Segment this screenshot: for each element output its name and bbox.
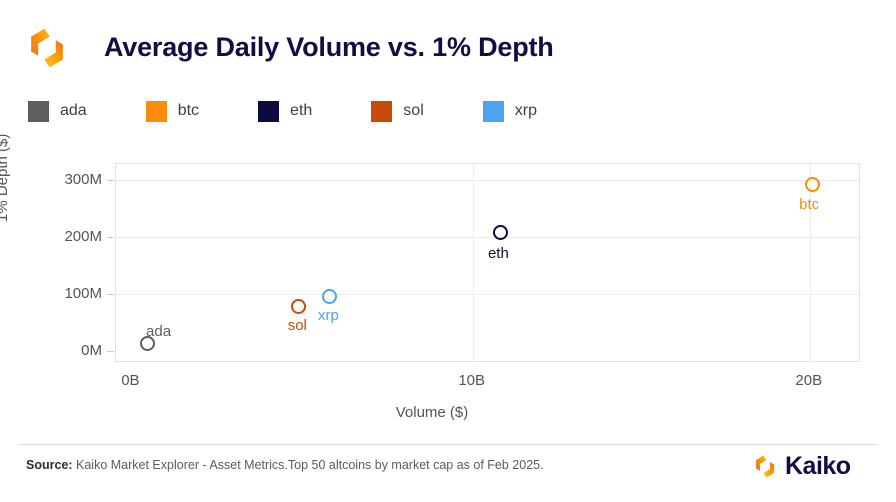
kaiko-logo-icon [752, 454, 778, 479]
data-point-label-xrp: xrp [318, 307, 339, 324]
gridline-vertical [473, 164, 474, 363]
kaiko-logo-icon [24, 26, 70, 70]
data-point-ada[interactable] [140, 336, 155, 351]
data-point-label-eth: eth [488, 245, 509, 262]
legend-swatch-ada [28, 101, 49, 122]
legend-label-eth: eth [290, 102, 312, 120]
plot-area [115, 163, 860, 362]
source-text: Kaiko Market Explorer - Asset Metrics.To… [73, 458, 544, 472]
legend-label-btc: btc [178, 102, 199, 120]
y-axis-tick-mark [107, 237, 114, 238]
source-label: Source: [26, 458, 73, 472]
data-point-xrp[interactable] [322, 289, 337, 304]
chart-card: Average Daily Volume vs. 1% Depth ada bt… [0, 0, 896, 502]
y-axis-tick-label: 300M [20, 171, 102, 188]
legend-swatch-xrp [483, 101, 504, 122]
y-axis-tick-label: 100M [20, 285, 102, 302]
x-axis-title: Volume ($) [0, 404, 896, 421]
legend-item-eth[interactable]: eth [258, 101, 312, 122]
x-axis-tick-label: 10B [458, 372, 485, 389]
x-axis-tick-label: 0B [121, 372, 139, 389]
legend-label-sol: sol [403, 102, 423, 120]
gridline-horizontal [116, 294, 861, 295]
x-axis-title-text: Volume ($) [396, 404, 469, 421]
legend-item-xrp[interactable]: xrp [483, 101, 537, 122]
gridline-horizontal [116, 180, 861, 181]
legend-label-ada: ada [60, 102, 87, 120]
footer-divider [18, 444, 878, 445]
chart-legend: ada btc eth sol xrp [28, 98, 596, 124]
gridline-horizontal [116, 237, 861, 238]
y-axis-tick-label: 200M [20, 228, 102, 245]
chart-header: Average Daily Volume vs. 1% Depth [0, 0, 896, 90]
data-point-label-ada: ada [146, 323, 171, 340]
y-axis-tick-mark [107, 294, 114, 295]
legend-swatch-eth [258, 101, 279, 122]
page-title: Average Daily Volume vs. 1% Depth [104, 32, 554, 63]
data-point-btc[interactable] [805, 177, 820, 192]
x-axis-tick-label: 20B [795, 372, 822, 389]
legend-swatch-sol [371, 101, 392, 122]
data-point-label-sol: sol [288, 317, 307, 334]
gridline-vertical [810, 164, 811, 363]
y-axis-tick-mark [107, 180, 114, 181]
legend-item-sol[interactable]: sol [371, 101, 423, 122]
y-axis-tick-mark [107, 351, 114, 352]
data-point-sol[interactable] [291, 299, 306, 314]
footer-brand: Kaiko [752, 452, 882, 482]
data-point-label-btc: btc [799, 196, 819, 213]
legend-item-btc[interactable]: btc [146, 101, 199, 122]
legend-label-xrp: xrp [515, 102, 537, 120]
legend-item-ada[interactable]: ada [28, 101, 87, 122]
y-axis-tick-label: 0M [20, 342, 102, 359]
legend-swatch-btc [146, 101, 167, 122]
source-note: Source: Kaiko Market Explorer - Asset Me… [26, 458, 544, 472]
brand-wordmark: Kaiko [785, 452, 851, 481]
data-point-eth[interactable] [493, 225, 508, 240]
y-axis-title: 1% Depth ($) [0, 134, 11, 222]
